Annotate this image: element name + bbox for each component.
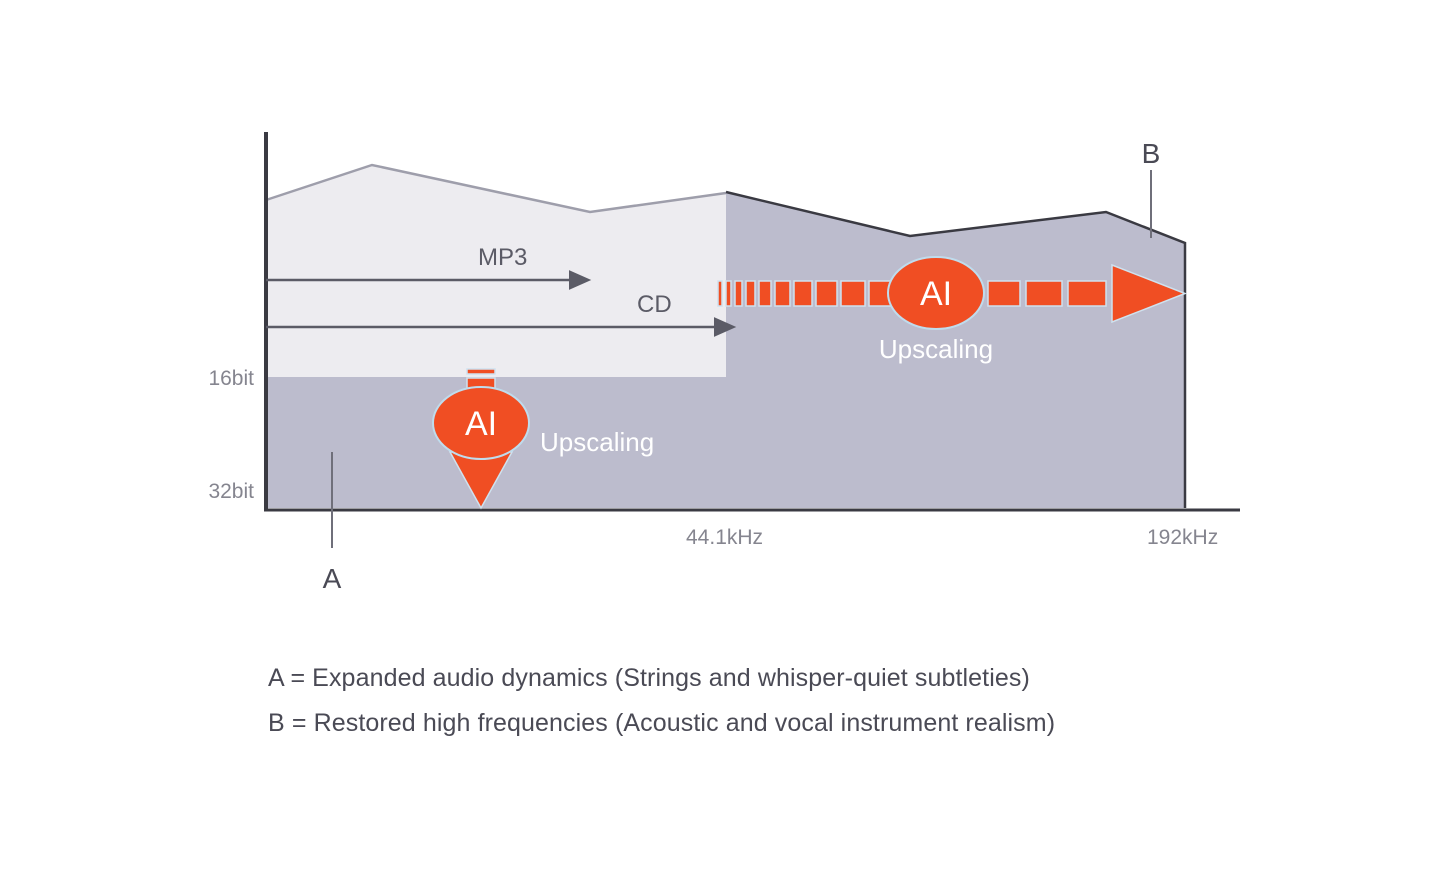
marker-b: B <box>1142 138 1161 238</box>
y-tick-16bit: 16bit <box>208 367 254 390</box>
y-tick-32bit: 32bit <box>208 480 254 503</box>
audio-upscaling-diagram: 16bit 32bit 44.1kHz 192kHz MP3 CD <box>0 0 1440 875</box>
ai-vertical-upscaling-label: Upscaling <box>540 427 654 457</box>
legend-item-b: B = Restored high frequencies (Acoustic … <box>268 709 1055 738</box>
ai-horizontal-dashes-right <box>988 281 1106 306</box>
standard-audio-area <box>266 165 726 377</box>
legend-item-a: A = Expanded audio dynamics (Strings and… <box>268 664 1030 693</box>
marker-a-label: A <box>323 563 342 594</box>
mp3-label: MP3 <box>478 244 527 271</box>
diagram-canvas: 16bit 32bit 44.1kHz 192kHz MP3 CD <box>0 0 1440 875</box>
x-tick-192khz: 192kHz <box>1147 526 1218 549</box>
ai-horizontal-upscaling-label: Upscaling <box>879 334 993 364</box>
ai-badge-horizontal-label: AI <box>920 275 952 313</box>
cd-label: CD <box>637 291 672 318</box>
marker-b-label: B <box>1142 138 1161 169</box>
ai-badge-vertical-label: AI <box>465 405 497 443</box>
x-tick-44khz: 44.1kHz <box>686 526 763 549</box>
